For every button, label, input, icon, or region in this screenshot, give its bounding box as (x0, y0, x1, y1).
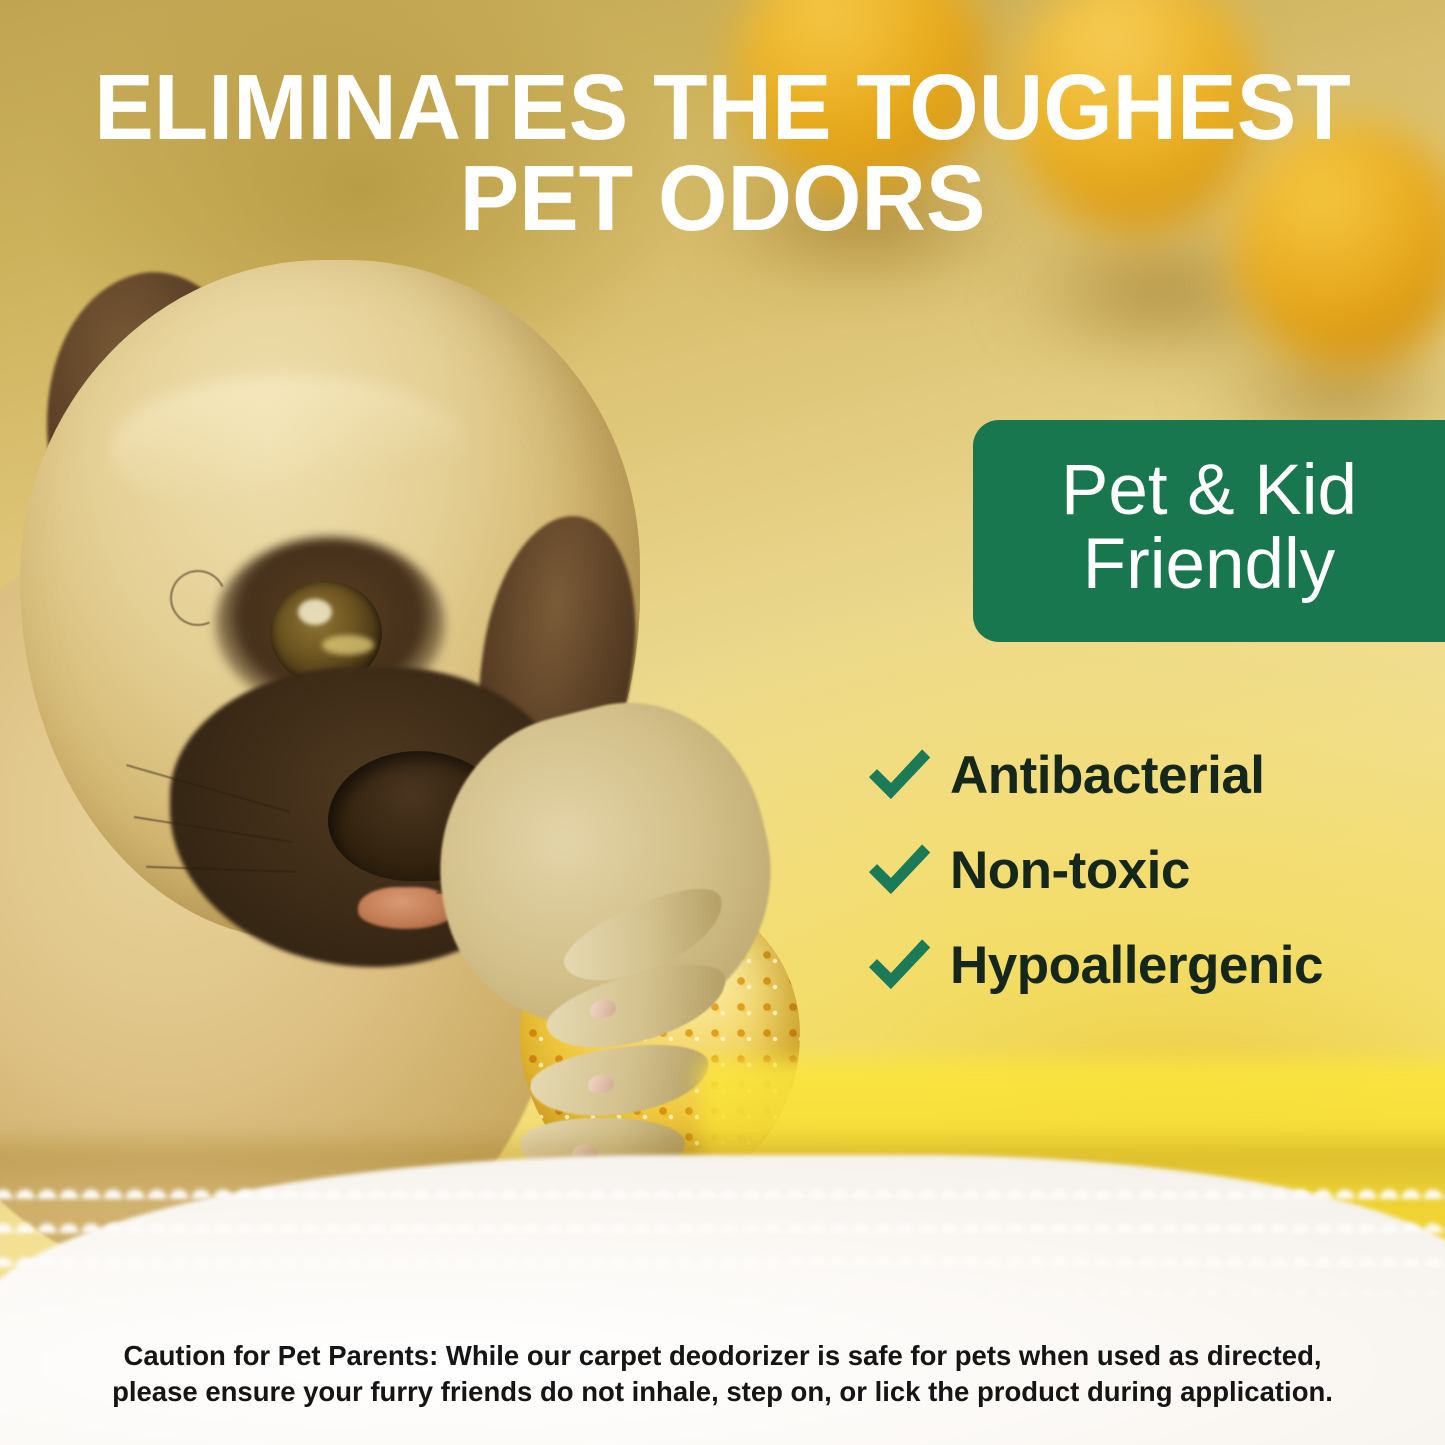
caution-note: Caution for Pet Parents: While our carpe… (0, 1338, 1445, 1411)
dog-brow-fold (110, 375, 470, 525)
benefit-label: Antibacterial (950, 745, 1265, 806)
check-icon (862, 929, 936, 1003)
benefit-label: Hypoallergenic (950, 935, 1323, 996)
badge-label: Pet & Kid Friendly (1061, 454, 1357, 602)
product-infographic: ELIMINATES THE TOUGHEST PET ODORS Pet & … (0, 0, 1445, 1445)
check-icon (862, 834, 936, 908)
benefits-list: Antibacterial Non-toxic Hypoallergenic (862, 728, 1442, 1013)
carpet-fluff-texture (0, 1165, 1445, 1295)
check-icon (862, 739, 936, 813)
list-item: Antibacterial (862, 728, 1442, 823)
dog-eye-highlight (298, 599, 332, 625)
benefit-label: Non-toxic (950, 840, 1190, 901)
pet-kid-friendly-badge: Pet & Kid Friendly (973, 420, 1445, 642)
page-title: ELIMINATES THE TOUGHEST PET ODORS (29, 62, 1416, 244)
dog-eye-highlight (322, 635, 374, 655)
list-item: Non-toxic (862, 823, 1442, 918)
list-item: Hypoallergenic (862, 918, 1442, 1013)
